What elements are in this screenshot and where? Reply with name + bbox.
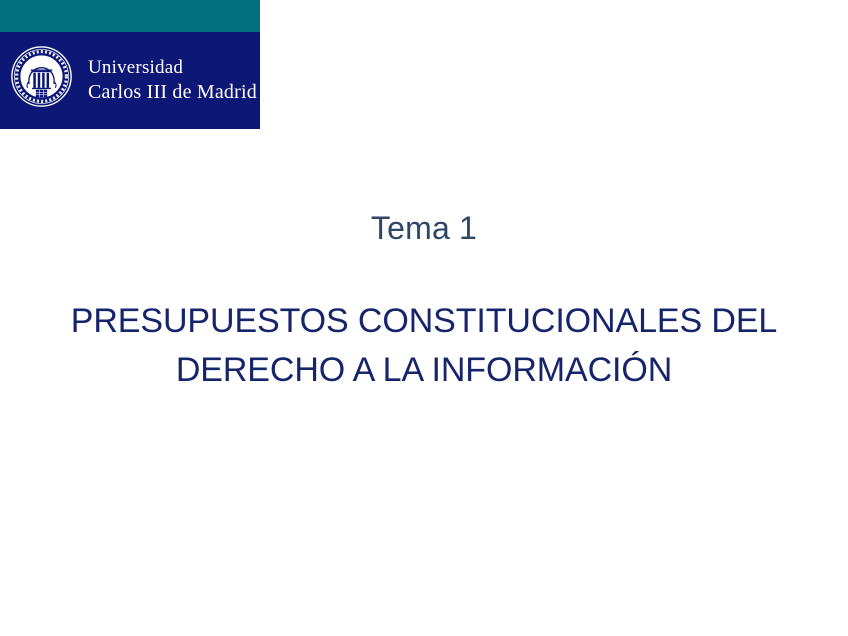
brand-logo-panel: Universidad Carlos III de Madrid: [0, 32, 260, 129]
presentation-slide: Universidad Carlos III de Madrid Tema 1 …: [0, 0, 848, 636]
university-name-line1: Universidad: [88, 56, 257, 80]
university-seal-icon: [10, 45, 73, 108]
slide-title-line-2: DERECHO A LA INFORMACIÓN: [40, 346, 808, 395]
university-name-line2: Carlos III de Madrid: [88, 80, 257, 105]
brand-teal-accent-bar: [0, 0, 260, 32]
slide-title-line-1: PRESUPUESTOS CONSTITUCIONALES DEL: [40, 297, 808, 346]
university-wordmark: Universidad Carlos III de Madrid: [88, 56, 257, 105]
slide-title: PRESUPUESTOS CONSTITUCIONALES DEL DERECH…: [0, 297, 848, 395]
brand-logo-panel-inner: Universidad Carlos III de Madrid: [0, 32, 260, 129]
slide-content: Tema 1 PRESUPUESTOS CONSTITUCIONALES DEL…: [0, 207, 848, 395]
topic-label: Tema 1: [0, 207, 848, 249]
